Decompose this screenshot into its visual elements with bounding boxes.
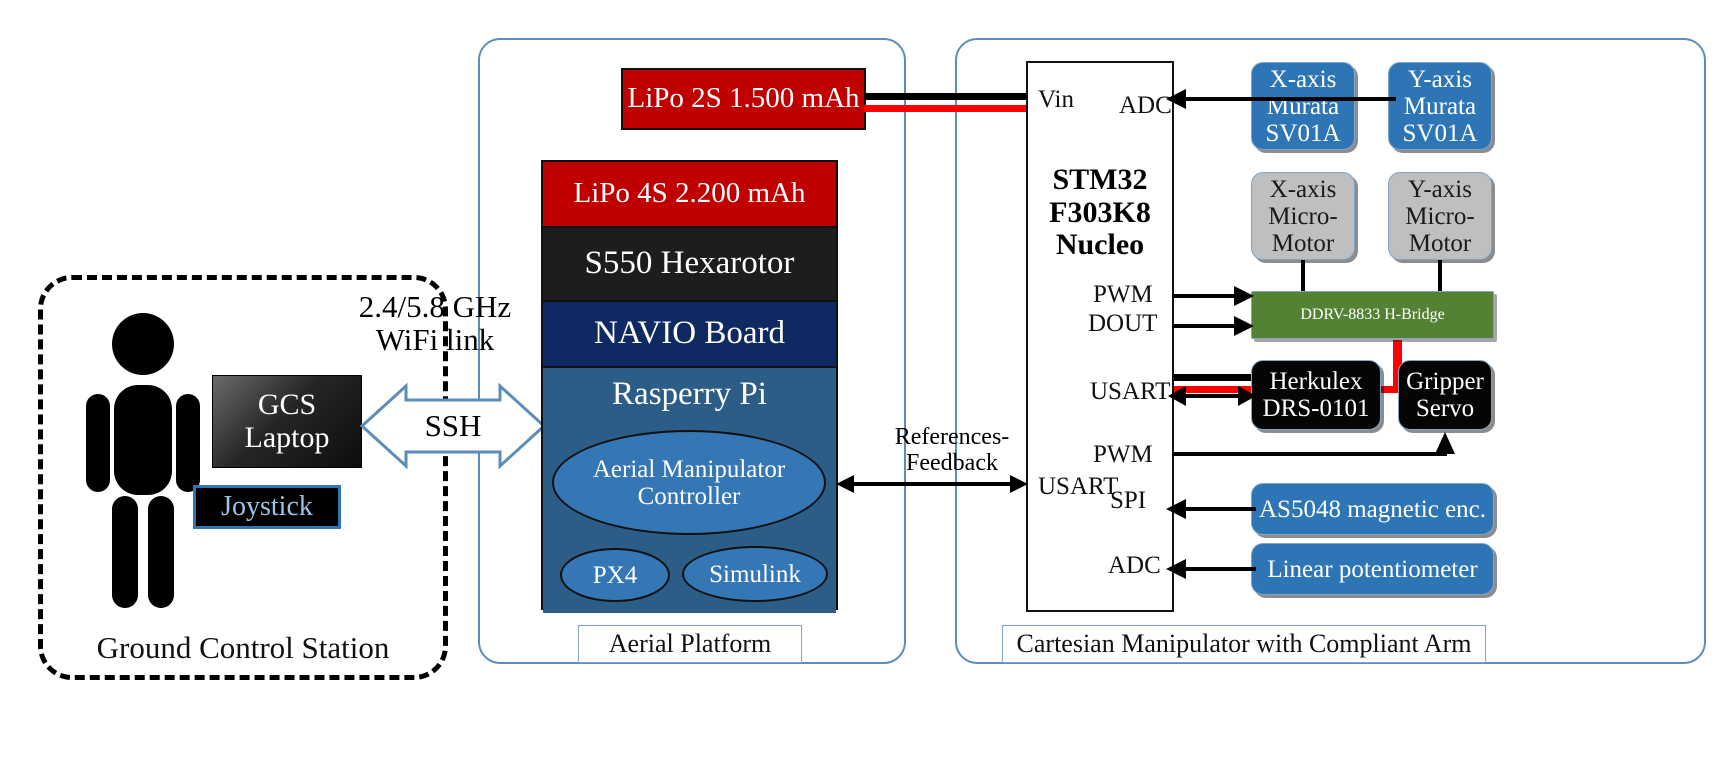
caption-ground-control-station: Ground Control Station xyxy=(38,620,448,676)
raspberry-pi-label-text: Rasperry Pi xyxy=(612,377,767,413)
motor-x-axis-micro: X-axis Micro- Motor xyxy=(1251,172,1355,260)
system-architecture-diagram: Ground Control Station Aerial Platform C… xyxy=(0,0,1736,778)
stack-item-hexarotor: S550 Hexarotor xyxy=(543,226,836,300)
motor-x-micro-line2: Micro- xyxy=(1268,203,1337,230)
sensor-as5048-encoder: AS5048 magnetic enc. xyxy=(1251,483,1494,535)
wire-dout-to-hbridge xyxy=(1172,315,1254,337)
motor-y-micro-line2: Micro- xyxy=(1405,203,1474,230)
aerial-stack: LiPo 4S 2.200 mAh S550 Hexarotor NAVIO B… xyxy=(541,160,838,610)
servo-herkulex-line1: Herkulex xyxy=(1269,368,1362,395)
wifi-link-label: 2.4/5.8 GHz WiFi link xyxy=(330,283,540,363)
operator-person-icon xyxy=(78,310,208,610)
stm32-title-line2: F303K8 xyxy=(1049,197,1151,229)
module-simulink-label: Simulink xyxy=(709,561,801,588)
gcs-laptop-box[interactable]: GCS Laptop xyxy=(212,375,362,468)
encoder-label: AS5048 magnetic enc. xyxy=(1259,496,1486,523)
mcu-pin-usart-left-label: USART xyxy=(1038,473,1118,500)
mcu-pin-usart-right: USART xyxy=(1090,378,1170,406)
servo-gripper-line1: Gripper xyxy=(1406,368,1484,395)
controller-label-line2: Controller xyxy=(638,483,741,510)
module-simulink-ellipse: Simulink xyxy=(682,546,828,602)
ssh-label: SSH xyxy=(385,404,521,448)
motor-x-micro-line3: Motor xyxy=(1272,230,1335,257)
references-feedback-arrow xyxy=(836,470,1028,498)
motor-y-micro-line3: Motor xyxy=(1409,230,1472,257)
sensor-y-murata-line2: Murata xyxy=(1404,93,1476,120)
servo-gripper: Gripper Servo xyxy=(1398,360,1492,430)
stack-item-raspberry-pi-label: Rasperry Pi xyxy=(543,368,836,422)
wire-x-motor-to-hbridge xyxy=(1301,260,1305,292)
mcu-pin-usart-left: USART xyxy=(1038,473,1118,501)
potentiometer-label: Linear potentiometer xyxy=(1267,556,1477,583)
gcs-laptop-label-line2: Laptop xyxy=(245,422,330,454)
joystick-box[interactable]: Joystick xyxy=(193,485,341,529)
stack-item-lipo-4s: LiPo 4S 2.200 mAh xyxy=(543,162,836,226)
stm32-nucleo-title: STM32 F303K8 Nucleo xyxy=(1026,158,1174,268)
stack-item-hexarotor-label: S550 Hexarotor xyxy=(585,246,795,282)
caption-gcs-label: Ground Control Station xyxy=(97,631,390,664)
controller-label-line1: Aerial Manipulator xyxy=(593,456,785,483)
caption-cartesian-manipulator: Cartesian Manipulator with Compliant Arm xyxy=(1002,625,1486,663)
sensor-linear-potentiometer: Linear potentiometer xyxy=(1251,543,1494,595)
sensor-y-murata-line3: SV01A xyxy=(1402,120,1477,147)
wire-usart-to-herkulex xyxy=(1168,384,1256,408)
aerial-manipulator-controller-ellipse: Aerial Manipulator Controller xyxy=(552,430,826,535)
mcu-pin-adc-2: ADC xyxy=(1108,552,1161,580)
battery-lipo-2s: LiPo 2S 1.500 mAh xyxy=(621,68,866,130)
module-px4-label: PX4 xyxy=(593,562,637,589)
mcu-pin-vin: Vin xyxy=(1038,86,1074,114)
caption-aerial-label: Aerial Platform xyxy=(609,630,771,658)
wire-encoder-to-spi xyxy=(1166,498,1256,520)
ssh-label-text: SSH xyxy=(425,409,482,442)
motor-y-axis-micro: Y-axis Micro- Motor xyxy=(1388,172,1492,260)
servo-gripper-line2: Servo xyxy=(1416,395,1474,422)
wifi-link-line2: WiFi link xyxy=(376,323,494,356)
sensor-x-murata-line3: SV01A xyxy=(1265,120,1340,147)
module-px4-ellipse: PX4 xyxy=(560,548,670,602)
servo-herkulex-drs0101: Herkulex DRS-0101 xyxy=(1251,360,1381,430)
battery-lipo-2s-label: LiPo 2S 1.500 mAh xyxy=(627,83,859,114)
references-feedback-line1: References- xyxy=(895,425,1010,451)
mcu-pin-spi-label: SPI xyxy=(1110,487,1146,514)
mcu-pin-pwm-1: PWM xyxy=(1093,281,1153,309)
mcu-pin-adc-1-label: ADC xyxy=(1119,92,1172,119)
mcu-pin-adc-2-label: ADC xyxy=(1108,552,1161,579)
mcu-pin-vin-label: Vin xyxy=(1038,86,1074,113)
wire-pwm-to-hbridge xyxy=(1172,285,1254,307)
mcu-pin-pwm-1-label: PWM xyxy=(1093,281,1153,308)
stm32-title-line3: Nucleo xyxy=(1056,229,1144,261)
sensor-y-axis-murata: Y-axis Murata SV01A xyxy=(1388,62,1492,150)
joystick-label: Joystick xyxy=(221,492,313,522)
motor-y-micro-line1: Y-axis xyxy=(1408,176,1472,203)
mcu-pin-dout: DOUT xyxy=(1088,310,1157,338)
stm32-title-line1: STM32 xyxy=(1052,164,1147,196)
motor-x-micro-line1: X-axis xyxy=(1270,176,1337,203)
caption-manipulator-label: Cartesian Manipulator with Compliant Arm xyxy=(1017,630,1472,658)
stack-item-navio-label: NAVIO Board xyxy=(594,316,785,352)
stack-item-lipo-4s-label: LiPo 4S 2.200 mAh xyxy=(573,178,805,209)
gcs-laptop-label-line1: GCS xyxy=(258,389,316,421)
mcu-pin-dout-label: DOUT xyxy=(1088,310,1157,337)
servo-herkulex-line2: DRS-0101 xyxy=(1263,395,1370,422)
wire-potentiometer-to-adc xyxy=(1166,558,1256,580)
wire-sensors-to-adc xyxy=(1166,88,1396,110)
hbridge-ddrv8833: DDRV-8833 H-Bridge xyxy=(1251,291,1494,339)
hbridge-label: DDRV-8833 H-Bridge xyxy=(1300,306,1444,323)
mcu-pin-pwm-2-label: PWM xyxy=(1093,441,1153,468)
wire-y-motor-to-hbridge xyxy=(1438,260,1442,292)
wifi-link-line1: 2.4/5.8 GHz xyxy=(359,290,511,323)
stack-item-raspberry-pi: Rasperry Pi Aerial Manipulator Controlle… xyxy=(543,366,836,613)
mcu-pin-adc-1: ADC xyxy=(1119,92,1172,120)
mcu-pin-usart-right-label: USART xyxy=(1090,378,1170,405)
caption-aerial-platform: Aerial Platform xyxy=(578,625,802,663)
mcu-pin-spi: SPI xyxy=(1110,487,1146,515)
sensor-y-murata-line1: Y-axis xyxy=(1408,66,1472,93)
mcu-pin-pwm-2: PWM xyxy=(1093,441,1153,469)
stack-item-navio: NAVIO Board xyxy=(543,300,836,366)
